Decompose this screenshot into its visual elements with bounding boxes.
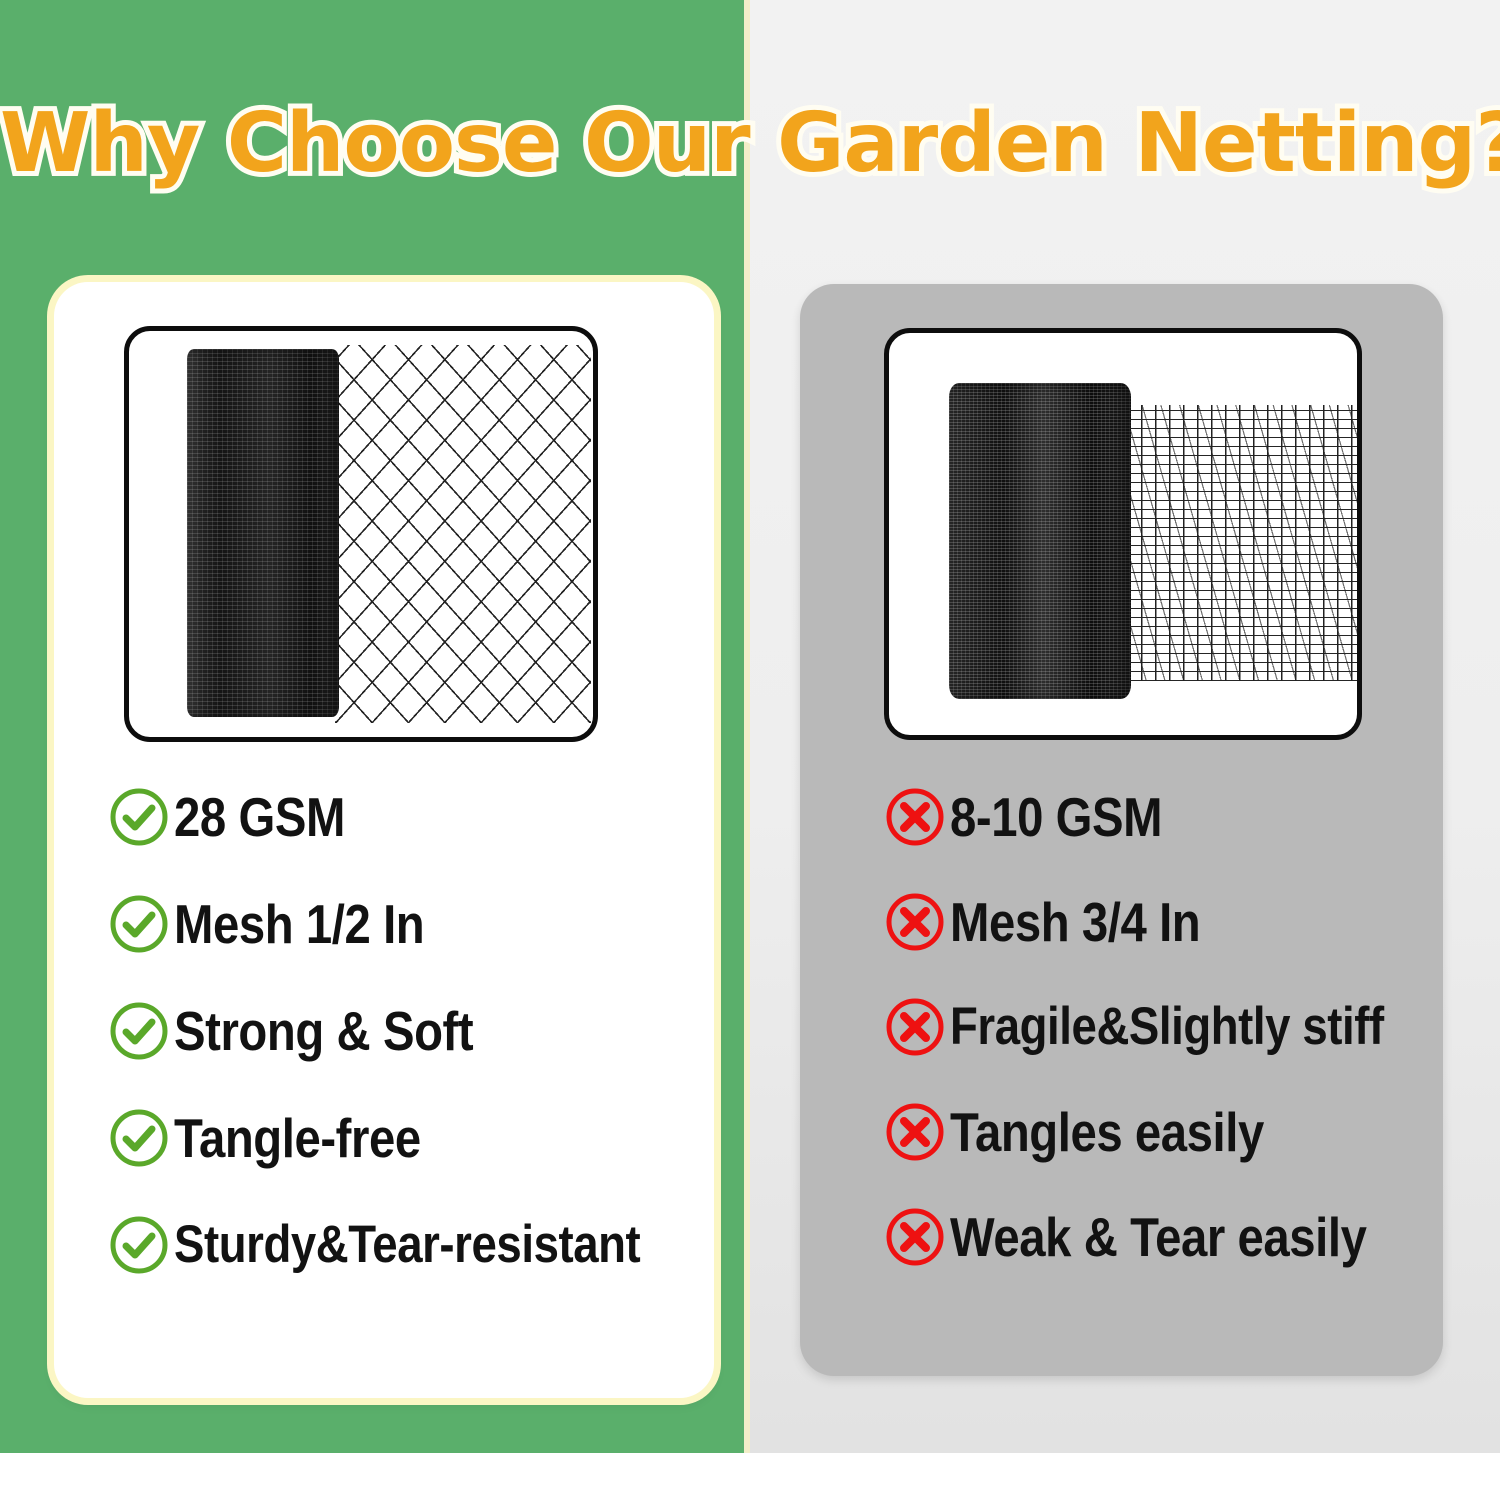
page-title: Why Choose Our Garden Netting? <box>0 98 1500 190</box>
cross-circle-icon <box>884 1101 946 1163</box>
feature-label: Mesh 1/2 In <box>174 893 424 955</box>
feature-label: Tangle-free <box>174 1107 421 1169</box>
check-circle-icon <box>108 893 170 955</box>
list-item: Fragile&Slightly stiff <box>884 988 1454 1066</box>
bottom-margin <box>0 1453 1500 1500</box>
list-item: 8-10 GSM <box>884 778 1454 856</box>
comparison-infographic: Why Choose Our Garden Netting? 28 GSM Me… <box>0 0 1500 1500</box>
feature-label: Tangles easily <box>950 1101 1264 1163</box>
list-item: Tangle-free <box>108 1099 728 1177</box>
check-circle-icon <box>108 786 170 848</box>
netting-roll <box>187 349 339 717</box>
feature-label: Strong & Soft <box>174 1000 473 1062</box>
check-circle-icon <box>108 1107 170 1169</box>
list-item: Tangles easily <box>884 1093 1454 1171</box>
list-item: Sturdy&Tear-resistant <box>108 1206 728 1284</box>
list-item: 28 GSM <box>108 778 728 856</box>
netting-roll <box>949 383 1131 699</box>
feature-label: Mesh 3/4 In <box>950 891 1200 953</box>
list-item: Mesh 3/4 In <box>884 883 1454 961</box>
cross-circle-icon <box>884 786 946 848</box>
square-grid-mesh-pattern <box>1127 405 1357 681</box>
list-item: Strong & Soft <box>108 992 728 1070</box>
check-circle-icon <box>108 1214 170 1276</box>
feature-label: 28 GSM <box>174 786 345 848</box>
our-product-photo <box>124 326 598 742</box>
our-product-feature-list: 28 GSM Mesh 1/2 In Strong & Soft Tangle-… <box>108 778 728 1313</box>
competitor-feature-list: 8-10 GSM Mesh 3/4 In Fragile&Slightly st… <box>884 778 1454 1303</box>
feature-label: Fragile&Slightly stiff <box>950 996 1384 1058</box>
cross-circle-icon <box>884 1206 946 1268</box>
check-circle-icon <box>108 1000 170 1062</box>
list-item: Weak & Tear easily <box>884 1198 1454 1276</box>
cross-circle-icon <box>884 891 946 953</box>
list-item: Mesh 1/2 In <box>108 885 728 963</box>
diamond-mesh-pattern <box>335 345 591 723</box>
feature-label: Sturdy&Tear-resistant <box>174 1214 640 1276</box>
feature-label: 8-10 GSM <box>950 786 1162 848</box>
feature-label: Weak & Tear easily <box>950 1206 1366 1268</box>
cross-circle-icon <box>884 996 946 1058</box>
competitor-product-photo <box>884 328 1362 740</box>
